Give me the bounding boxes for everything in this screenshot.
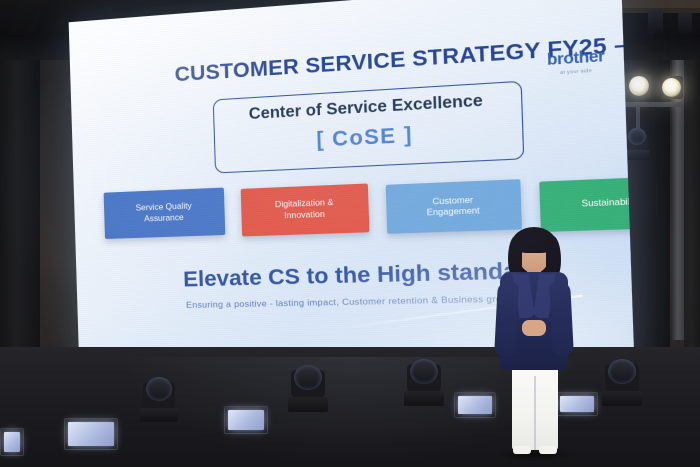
moving-head-lens (628, 128, 646, 145)
moving-head-lens (410, 359, 437, 384)
moving-head-base (624, 150, 650, 160)
pillar-label-line2: Engagement (427, 206, 480, 220)
par-light-lens (68, 422, 114, 446)
truss-moving-head (624, 126, 650, 160)
pillar-card-service-quality: Service QualityAssurance (104, 188, 226, 239)
moving-head-base (140, 408, 178, 422)
par-light-lens (228, 410, 264, 430)
moving-head-lens (608, 359, 635, 384)
presenter-trouser-seam (534, 376, 536, 450)
brother-logo-tagline: at your side (547, 68, 605, 77)
moving-head-base (602, 391, 642, 406)
presenter-hands (522, 320, 546, 336)
presenter-shoe-left (513, 446, 531, 454)
slide-title: CUSTOMER SERVICE STRATEGY FY25 – FY27 (174, 34, 597, 87)
moving-head-lens (146, 377, 172, 401)
moving-head-lens (294, 365, 321, 390)
moving-head-base (404, 391, 444, 406)
floor-moving-head-1 (140, 374, 178, 422)
presenter-arm-left (494, 282, 519, 357)
cose-callout-box: Center of Service Excellence [ CoSE ] (213, 81, 525, 174)
presenter-shoe-right (539, 446, 557, 454)
pillar-label-line2: Assurance (136, 213, 192, 226)
floor-moving-head-4 (602, 356, 642, 406)
brother-logo: brother at your side (547, 49, 605, 76)
truss-spot-lamp-2 (629, 76, 649, 96)
pillar-label-line2: Innovation (275, 209, 334, 222)
truss-spot-lamp-3 (662, 78, 681, 97)
moving-head-base (288, 397, 328, 412)
floor-par-light-1 (64, 418, 118, 450)
ceiling-hanging-light-3 (648, 10, 663, 34)
stage-drape-far-right (684, 28, 700, 368)
floor-moving-head-2 (288, 362, 328, 412)
presenter-arm-right (549, 282, 574, 357)
pillar-card-digitalization: Digitalization &Innovation (241, 184, 370, 237)
ceiling-hanging-light-4 (678, 12, 692, 34)
brother-logo-wordmark: brother (547, 49, 605, 69)
presenter-person (486, 226, 582, 456)
stage-scene: CUSTOMER SERVICE STRATEGY FY25 – FY27 br… (0, 0, 700, 467)
stage-drape-left (0, 28, 40, 358)
cose-abbreviation: [ CoSE ] (215, 118, 523, 158)
pillar-label-line1: Sustainability (581, 197, 634, 211)
floor-par-light-5 (0, 428, 24, 456)
par-light-lens (4, 432, 20, 452)
floor-par-light-2 (224, 406, 268, 434)
pillar-card-sustainability: Sustainability (539, 175, 634, 231)
floor-moving-head-3 (404, 356, 444, 406)
